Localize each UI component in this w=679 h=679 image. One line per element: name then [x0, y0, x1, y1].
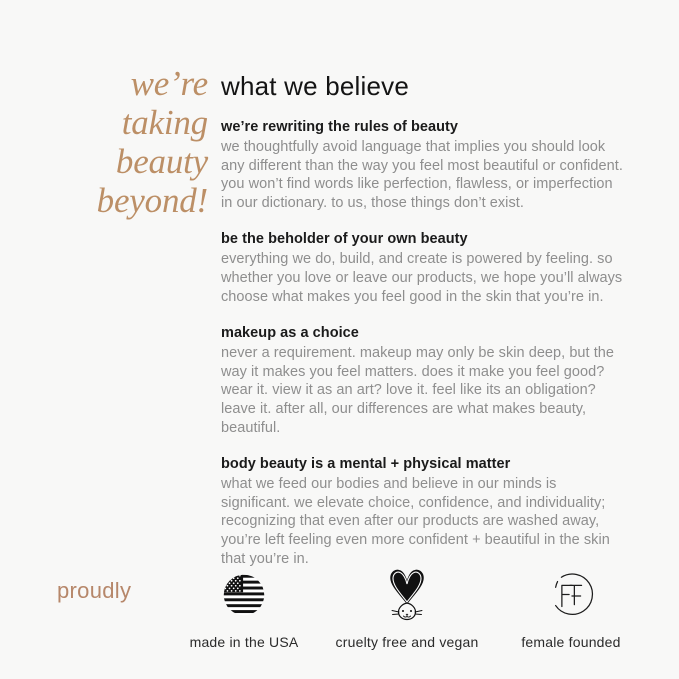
section-body: everything we do, build, and create is p…: [221, 250, 625, 306]
leaping-bunny-heart-icon: [323, 566, 491, 624]
belief-section-beholder: be the beholder of your own beauty every…: [221, 230, 625, 306]
headline-line-3: beauty: [56, 142, 208, 181]
headline-line-2: taking: [56, 103, 208, 142]
headline-line-1: we’re: [56, 64, 208, 103]
usa-flag-circle-icon: [168, 566, 320, 624]
belief-section-rewriting-rules: we’re rewriting the rules of beauty we t…: [221, 118, 625, 212]
badge-row: proudly: [0, 566, 679, 658]
belief-section-makeup-choice: makeup as a choice never a requirement. …: [221, 324, 625, 437]
brand-values-card: we’re taking beauty beyond! what we beli…: [0, 0, 679, 679]
section-body: we thoughtfully avoid language that impl…: [221, 138, 625, 212]
badge-female-founded: female founded: [495, 566, 647, 650]
section-body: what we feed our bodies and believe in o…: [221, 475, 625, 568]
belief-section-body-beauty: body beauty is a mental + physical matte…: [221, 455, 625, 568]
section-body: never a requirement. makeup may only be …: [221, 344, 625, 437]
beliefs-column: what we believe we’re rewriting the rule…: [221, 70, 625, 568]
section-heading: body beauty is a mental + physical matte…: [221, 455, 625, 474]
badge-label: cruelty free and vegan: [323, 634, 491, 650]
badge-made-in-usa: made in the USA: [168, 566, 320, 650]
badge-label: made in the USA: [168, 634, 320, 650]
badge-cruelty-free-vegan: cruelty free and vegan: [323, 566, 491, 650]
proudly-label: proudly: [57, 578, 131, 604]
section-heading: be the beholder of your own beauty: [221, 230, 625, 249]
badge-label: female founded: [495, 634, 647, 650]
headline-line-4: beyond!: [56, 181, 208, 220]
section-heading: we’re rewriting the rules of beauty: [221, 118, 625, 137]
female-founded-monogram-icon: [495, 566, 647, 624]
section-heading: makeup as a choice: [221, 324, 625, 343]
brand-headline: we’re taking beauty beyond!: [56, 64, 208, 220]
page-title: what we believe: [221, 70, 625, 102]
